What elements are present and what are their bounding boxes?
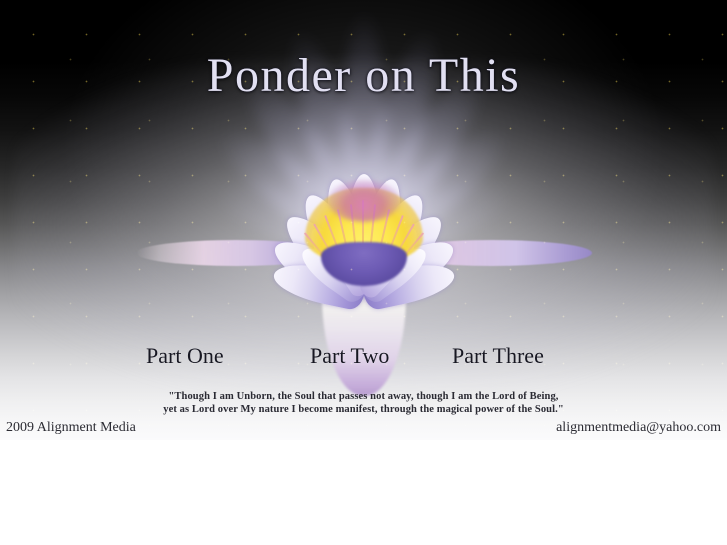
page-root: Ponder on This Part One Part Two Part Th… [0,0,727,545]
quote-block: "Though I am Unborn, the Soul that passe… [0,391,727,416]
page-title: Ponder on This [0,48,727,103]
email-link[interactable]: alignmentmedia@yahoo.com [556,420,721,436]
copyright-text: 2009 Alignment Media [6,420,136,436]
main-navigation: Part One Part Two Part Three [0,343,727,373]
quote-line-2: yet as Lord over My nature I become mani… [0,404,727,417]
footer: 2009 Alignment Media alignmentmedia@yaho… [0,420,727,440]
nav-link-part-three[interactable]: Part Three [452,343,544,369]
nav-link-part-one[interactable]: Part One [146,343,224,369]
quote-line-1: "Though I am Unborn, the Soul that passe… [0,391,727,404]
nav-link-part-two[interactable]: Part Two [310,343,389,369]
hero-banner: Ponder on This Part One Part Two Part Th… [0,0,727,440]
